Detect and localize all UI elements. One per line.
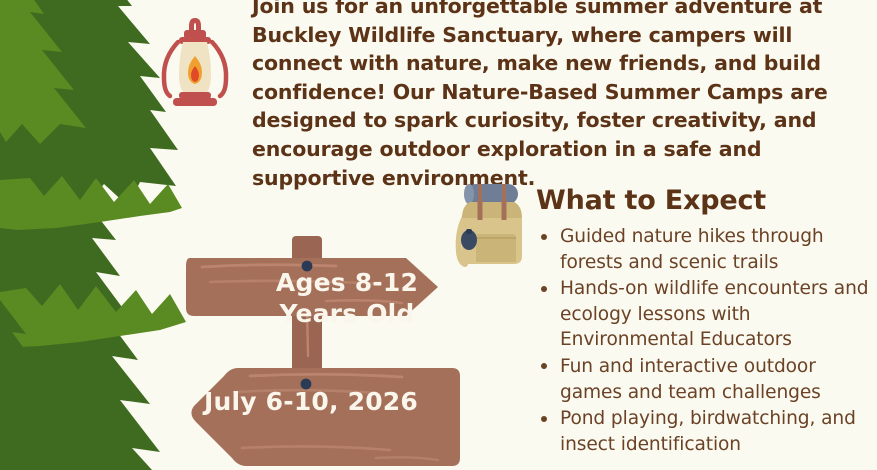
camping-lantern-icon [153,12,237,107]
list-item-label: Guided nature hikes through forests and … [560,226,824,273]
what-to-expect-section: What to Expect Guided nature hikes throu… [536,184,871,458]
hiking-backpack-icon [452,176,534,272]
list-item-label: Fun and interactive outdoor games and te… [560,356,821,403]
what-to-expect-list: Guided nature hikes through forests and … [536,224,871,457]
list-item: Fun and interactive outdoor games and te… [536,354,871,405]
list-item: Guided nature hikes through forests and … [536,224,871,275]
list-item: Hands-on wildlife encounters and ecology… [536,276,871,353]
summer-camp-poster: Join us for an unforgettable summer adve… [0,0,877,470]
signpost-ages-line1: Ages 8-12 [258,267,436,298]
signpost-dates-text: July 6-10, 2026 [186,386,436,417]
signpost-dates-line1: July 6-10, 2026 [186,386,436,417]
signpost-ages-text: Ages 8-12 Years Old [258,267,436,329]
what-to-expect-title: What to Expect [536,184,871,218]
bullet-icon [541,286,547,292]
list-item-label: Hands-on wildlife encounters and ecology… [560,278,869,350]
signpost-ages-line2: Years Old [258,298,436,329]
bullet-icon [541,234,547,240]
list-item: Pond playing, birdwatching, and insect i… [536,406,871,457]
intro-paragraph: Join us for an unforgettable summer adve… [252,0,868,192]
list-item-label: Pond playing, birdwatching, and insect i… [560,408,856,455]
bullet-icon [541,363,547,369]
bullet-icon [541,416,547,422]
